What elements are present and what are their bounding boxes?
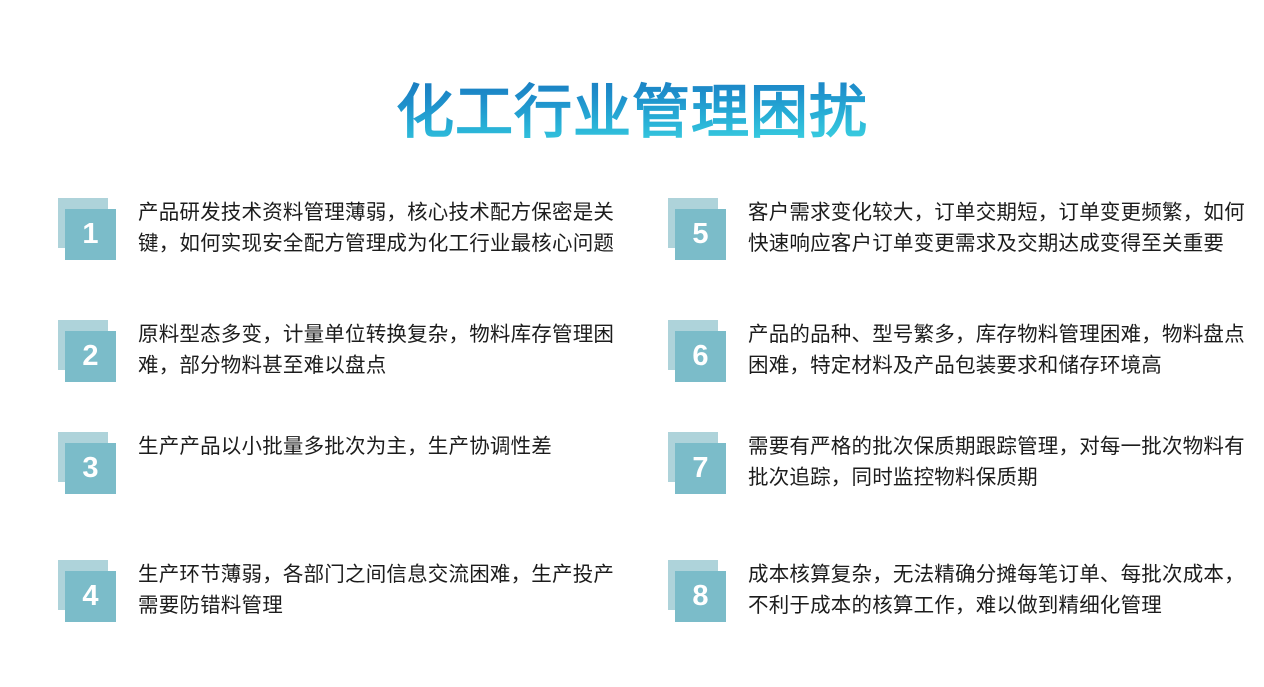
number-badge-6: 6 bbox=[668, 320, 730, 384]
number-badge-8: 8 bbox=[668, 560, 730, 624]
list-item-3[interactable]: 3 生产产品以小批量多批次为主，生产协调性差 bbox=[58, 430, 638, 496]
list-item-text: 生产环节薄弱，各部门之间信息交流困难，生产投产需要防错料管理 bbox=[138, 558, 630, 622]
list-item-text: 需要有严格的批次保质期跟踪管理，对每一批次物料有批次追踪，同时监控物料保质期 bbox=[748, 430, 1246, 494]
slide-root: 化工行业管理困扰 1 产品研发技术资料管理薄弱，核心技术配方保密是关键，如何实现… bbox=[0, 0, 1264, 687]
list-item-text: 产品的品种、型号繁多，库存物料管理困难，物料盘点困难，特定材料及产品包装要求和储… bbox=[748, 318, 1246, 382]
number-badge-5: 5 bbox=[668, 198, 730, 262]
badge-number: 6 bbox=[675, 331, 726, 382]
list-item-text: 产品研发技术资料管理薄弱，核心技术配方保密是关键，如何实现安全配方管理成为化工行… bbox=[138, 196, 630, 260]
number-badge-7: 7 bbox=[668, 432, 730, 496]
number-badge-3: 3 bbox=[58, 432, 120, 496]
page-title-container: 化工行业管理困扰 bbox=[0, 42, 1264, 185]
badge-number: 4 bbox=[65, 571, 116, 622]
number-badge-1: 1 bbox=[58, 198, 120, 262]
list-item-text: 原料型态多变，计量单位转换复杂，物料库存管理困难，部分物料甚至难以盘点 bbox=[138, 318, 630, 382]
list-item-text: 成本核算复杂，无法精确分摊每笔订单、每批次成本，不利于成本的核算工作，难以做到精… bbox=[748, 558, 1246, 622]
list-item-4[interactable]: 4 生产环节薄弱，各部门之间信息交流困难，生产投产需要防错料管理 bbox=[58, 558, 638, 624]
content-columns: 1 产品研发技术资料管理薄弱，核心技术配方保密是关键，如何实现安全配方管理成为化… bbox=[0, 186, 1264, 666]
number-badge-4: 4 bbox=[58, 560, 120, 624]
list-item-8[interactable]: 8 成本核算复杂，无法精确分摊每笔订单、每批次成本，不利于成本的核算工作，难以做… bbox=[668, 558, 1248, 624]
number-badge-2: 2 bbox=[58, 320, 120, 384]
badge-number: 2 bbox=[65, 331, 116, 382]
list-item-6[interactable]: 6 产品的品种、型号繁多，库存物料管理困难，物料盘点困难，特定材料及产品包装要求… bbox=[668, 318, 1248, 384]
page-title: 化工行业管理困扰 bbox=[396, 81, 868, 146]
list-item-text: 客户需求变化较大，订单交期短，订单变更频繁，如何快速响应客户订单变更需求及交期达… bbox=[748, 196, 1246, 260]
list-item-1[interactable]: 1 产品研发技术资料管理薄弱，核心技术配方保密是关键，如何实现安全配方管理成为化… bbox=[58, 196, 638, 262]
badge-number: 7 bbox=[675, 443, 726, 494]
badge-number: 3 bbox=[65, 443, 116, 494]
list-item-2[interactable]: 2 原料型态多变，计量单位转换复杂，物料库存管理困难，部分物料甚至难以盘点 bbox=[58, 318, 638, 384]
badge-number: 5 bbox=[675, 209, 726, 260]
list-item-7[interactable]: 7 需要有严格的批次保质期跟踪管理，对每一批次物料有批次追踪，同时监控物料保质期 bbox=[668, 430, 1248, 496]
badge-number: 8 bbox=[675, 571, 726, 622]
list-item-text: 生产产品以小批量多批次为主，生产协调性差 bbox=[138, 430, 630, 463]
list-item-5[interactable]: 5 客户需求变化较大，订单交期短，订单变更频繁，如何快速响应客户订单变更需求及交… bbox=[668, 196, 1248, 262]
badge-number: 1 bbox=[65, 209, 116, 260]
